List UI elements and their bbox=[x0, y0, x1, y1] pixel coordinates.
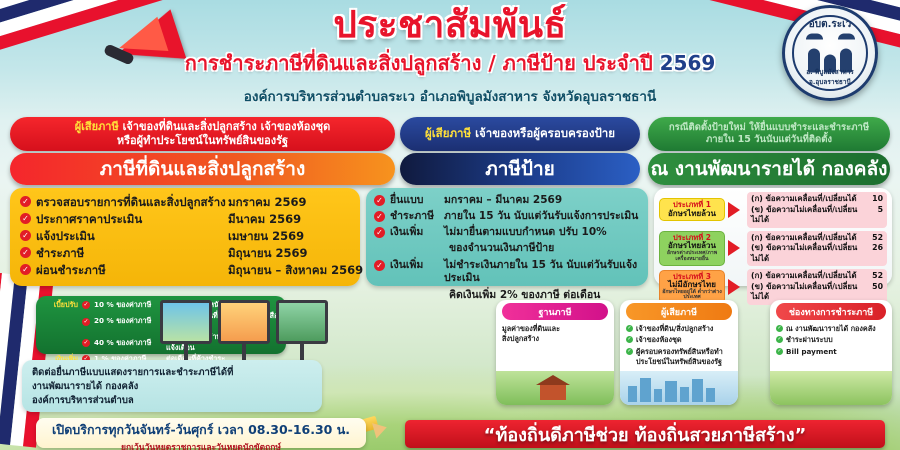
taxpayer-bar-land-line2: หรือผู้ทำประโยชน์ในทรัพย์สินของรัฐ bbox=[117, 134, 288, 147]
rate-line-value: 52 bbox=[865, 233, 883, 244]
schedule-date: เมษายน 2569 bbox=[228, 229, 304, 243]
rate-line-value: 26 bbox=[865, 243, 883, 264]
schedule-text: ภายใน 15 วัน นับแต่วันรับแจ้งการประเมิน bbox=[444, 210, 640, 223]
rate-type-tag: ประเภทที่ 3 ไม่มีอักษรไทย อักษรไทยอยู่ใต… bbox=[659, 270, 725, 304]
rate-line-text: (ข) ข้อความไม่เคลื่อนที่/เปลี่ยนไม่ได้ bbox=[751, 243, 865, 264]
check-icon: ✓ bbox=[82, 318, 90, 326]
list-item: ✓ ชำระภาษี มิถุนายน 2569 bbox=[20, 246, 350, 260]
category-land-tax: ภาษีที่ดินและสิ่งปลูกสร้าง bbox=[10, 153, 395, 185]
info-card-payment-channels: ช่องทางการชำระภาษี ✓ณ งานพัฒนารายได้ กอง… bbox=[770, 300, 892, 405]
service-hours-box: เปิดบริการทุกวันจันทร์-วันศุกร์ เวลา 08.… bbox=[36, 418, 366, 448]
taxpayer-bar-sign-key: ผู้เสียภาษี bbox=[425, 126, 471, 140]
check-icon: ✓ bbox=[626, 348, 633, 355]
card-text: ชำระผ่านระบบ bbox=[786, 335, 833, 345]
list-item: ✓ผู้ครอบครองทรัพย์สินหรือทำประโยชน์ในทรั… bbox=[626, 347, 732, 368]
list-item: ✓ณ งานพัฒนารายได้ กองคลัง bbox=[776, 324, 886, 334]
taxpayer-bar-sign: ผู้เสียภาษี เจ้าของหรือผู้ครอบครองป้าย bbox=[400, 117, 640, 151]
list-item: ✓ ชำระภาษี ภายใน 15 วัน นับแต่วันรับแจ้ง… bbox=[374, 210, 640, 223]
taxpayer-bar-sign-text: เจ้าของหรือผู้ครอบครองป้าย bbox=[475, 126, 615, 140]
rate-line-value: 10 bbox=[865, 194, 883, 205]
rate-line-text: (ข) ข้อความไม่เคลื่อนที่/เปลี่ยนไม่ได้ bbox=[751, 205, 865, 226]
slogan-banner: “ท้องถิ่นดีภาษีช่วย ท้องถิ่นสวยภาษีสร้าง… bbox=[405, 420, 885, 448]
new-sign-notice-line1: กรณีติดตั้งป้ายใหม่ ให้ยื่นแบบชำระและชำร… bbox=[669, 122, 869, 133]
check-icon: ✓ bbox=[776, 348, 783, 355]
schedule-date: มิถุนายน – สิงหาคม 2569 bbox=[228, 263, 363, 277]
check-icon: ✓ bbox=[626, 336, 633, 343]
schedule-continuation: ของจำนวนเงินภาษีป้าย bbox=[374, 239, 640, 256]
card-text: ณ งานพัฒนารายได้ กองคลัง bbox=[786, 324, 876, 334]
taxpayer-bar-land-key: ผู้เสียภาษี bbox=[75, 120, 119, 133]
category-payment-place: ณ งานพัฒนารายได้ กองคลัง bbox=[648, 153, 890, 185]
rate-values: (ก) ข้อความเคลื่อนที่/เปลี่ยนได้10 (ข) ข… bbox=[747, 192, 887, 228]
penalty-percent: 20 % ของค่าภาษี bbox=[94, 316, 166, 327]
check-icon: ✓ bbox=[626, 325, 633, 332]
card-text: มูลค่าของที่ดินและ bbox=[502, 324, 608, 334]
service-hours-line1: เปิดบริการทุกวันจันทร์-วันศุกร์ เวลา 08.… bbox=[36, 420, 366, 440]
schedule-label: ตรวจสอบรายการที่ดินและสิ่งปลูกสร้าง bbox=[36, 195, 228, 209]
rate-line-value: 52 bbox=[865, 271, 883, 282]
card-text: Bill payment bbox=[786, 347, 837, 357]
card-title: ผู้เสียภาษี bbox=[626, 303, 732, 320]
penalty-percent: 10 % ของค่าภาษี bbox=[94, 300, 166, 311]
arrow-right-icon bbox=[728, 279, 744, 295]
schedule-date: มิถุนายน 2569 bbox=[228, 246, 307, 260]
page-title: ประชาสัมพันธ์ bbox=[0, 2, 900, 45]
check-icon: ✓ bbox=[20, 213, 31, 224]
taxpayer-bar-land-line1: เจ้าของที่ดินและสิ่งปลูกสร้าง เจ้าของห้อ… bbox=[123, 120, 331, 133]
card-body: มูลค่าของที่ดินและ สิ่งปลูกสร้าง bbox=[496, 320, 614, 349]
header-organization: องค์การบริหารส่วนตำบลระเว อำเภอพิบูลมังส… bbox=[0, 85, 900, 107]
check-icon: ✓ bbox=[20, 247, 31, 258]
check-icon: ✓ bbox=[82, 301, 90, 309]
schedule-text: ไม่ชำระเงินภายใน 15 วัน นับแต่วันรับแจ้ง… bbox=[444, 259, 640, 285]
schedule-label: เงินเพิ่ม bbox=[390, 226, 444, 239]
municipal-seal-logo: อบต.ระเว อ. พิบูลมังสาหาร จ.อุบลราชธานี bbox=[782, 5, 878, 101]
schedule-date: มกราคม 2569 bbox=[228, 195, 306, 209]
rate-type-note: อักษรต่างประเทศ/ภาพเครื่องหมายอื่น bbox=[661, 251, 723, 262]
check-icon: ✓ bbox=[20, 196, 31, 207]
contact-line-2: งานพัฒนารายได้ กองคลัง bbox=[32, 380, 312, 394]
billboard-illustration bbox=[160, 300, 335, 362]
new-sign-notice-bar: กรณีติดตั้งป้ายใหม่ ให้ยื่นแบบชำระและชำร… bbox=[648, 117, 890, 151]
contact-info-box: ติดต่อยื่นภาษีแบบแสดงรายการและชำระภาษีได… bbox=[22, 360, 322, 412]
card-title: ช่องทางการชำระภาษี bbox=[776, 303, 886, 320]
table-row: ประเภทที่ 2 อักษรไทยล้วน อักษรต่างประเทศ… bbox=[659, 231, 887, 267]
farm-illustration bbox=[496, 371, 614, 405]
rate-type-name: อักษรไทยล้วน bbox=[661, 210, 723, 219]
list-item: ✓เจ้าของที่ดิน/สิ่งปลูกสร้าง bbox=[626, 324, 732, 334]
rate-line-text: (ก) ข้อความเคลื่อนที่/เปลี่ยนได้ bbox=[751, 233, 865, 244]
schedule-label: เงินเพิ่ม bbox=[390, 259, 444, 272]
schedule-label: ผ่อนชำระภาษี bbox=[36, 263, 228, 277]
leaf-illustration bbox=[770, 371, 892, 405]
rate-type-tag: ประเภทที่ 2 อักษรไทยล้วน อักษรต่างประเทศ… bbox=[659, 231, 725, 265]
schedule-date: มีนาคม 2569 bbox=[228, 212, 301, 226]
check-icon: ✓ bbox=[374, 211, 385, 222]
list-item: ✓ เงินเพิ่ม ไม่มายื่นตามแบบกำหนด ปรับ 10… bbox=[374, 226, 640, 239]
schedule-label: ชำระภาษี bbox=[390, 210, 444, 223]
seal-bottom-text: อ. พิบูลมังสาหาร จ.อุบลราชธานี bbox=[785, 67, 875, 87]
check-icon: ✓ bbox=[374, 260, 385, 271]
list-item: ✓ แจ้งประเมิน เมษายน 2569 bbox=[20, 229, 350, 243]
list-item: ✓ ประกาศราคาประเมิน มีนาคม 2569 bbox=[20, 212, 350, 226]
seal-top-text: อบต.ระเว bbox=[785, 17, 875, 32]
rate-line-text: (ก) ข้อความเคลื่อนที่/เปลี่ยนได้ bbox=[751, 271, 865, 282]
contact-line-3: องค์การบริหารส่วนตำบล bbox=[32, 394, 312, 408]
sign-tax-rate-table: ประเภทที่ 1 อักษรไทยล้วน (ก) ข้อความเคลื… bbox=[654, 188, 892, 286]
contact-line-1: ติดต่อยื่นภาษีแบบแสดงรายการและชำระภาษีได… bbox=[32, 366, 312, 380]
check-icon: ✓ bbox=[374, 195, 385, 206]
seal-figures-icon bbox=[806, 36, 854, 72]
table-row: ประเภทที่ 1 อักษรไทยล้วน (ก) ข้อความเคลื… bbox=[659, 192, 887, 228]
poster-root: ประชาสัมพันธ์ การชำระภาษีที่ดินและสิ่งปล… bbox=[0, 0, 900, 450]
check-icon: ✓ bbox=[776, 325, 783, 332]
card-title: ฐานภาษี bbox=[502, 303, 608, 320]
taxpayer-bar-land: ผู้เสียภาษี เจ้าของที่ดินและสิ่งปลูกสร้า… bbox=[10, 117, 395, 151]
category-sign-tax: ภาษีป้าย bbox=[400, 153, 640, 185]
schedule-label: แจ้งประเมิน bbox=[36, 229, 228, 243]
service-hours-line2: ยกเว้นวันหยุดราชการและวันหยุดนักขัตฤกษ์ bbox=[36, 440, 366, 450]
list-item: ✓ ยื่นแบบ มกราคม – มีนาคม 2569 bbox=[374, 194, 640, 207]
info-card-tax-base: ฐานภาษี มูลค่าของที่ดินและ สิ่งปลูกสร้าง bbox=[496, 300, 614, 405]
info-card-taxpayer: ผู้เสียภาษี ✓เจ้าของที่ดิน/สิ่งปลูกสร้าง… bbox=[620, 300, 738, 405]
card-body: ✓เจ้าของที่ดิน/สิ่งปลูกสร้าง ✓เจ้าของห้อ… bbox=[620, 320, 738, 373]
card-text: เจ้าของที่ดิน/สิ่งปลูกสร้าง bbox=[636, 324, 713, 334]
header: ประชาสัมพันธ์ การชำระภาษีที่ดินและสิ่งปล… bbox=[0, 2, 900, 114]
list-item: ✓เจ้าของห้องชุด bbox=[626, 335, 732, 345]
sign-tax-schedule-panel: ✓ ยื่นแบบ มกราคม – มีนาคม 2569 ✓ ชำระภาษ… bbox=[366, 188, 648, 286]
schedule-label: ประกาศราคาประเมิน bbox=[36, 212, 228, 226]
rate-line-text: (ก) ข้อความเคลื่อนที่/เปลี่ยนได้ bbox=[751, 194, 865, 205]
check-icon: ✓ bbox=[20, 230, 31, 241]
header-subtitle: การชำระภาษีที่ดินและสิ่งปลูกสร้าง / ภาษี… bbox=[0, 47, 900, 79]
penalty-percent: 40 % ของค่าภาษี bbox=[94, 338, 166, 349]
schedule-label: ยื่นแบบ bbox=[390, 194, 444, 207]
rate-type-tag: ประเภทที่ 1 อักษรไทยล้วน bbox=[659, 198, 725, 221]
header-subtitle-text: การชำระภาษีที่ดินและสิ่งปลูกสร้าง / ภาษี… bbox=[185, 51, 653, 75]
list-item: ✓ ตรวจสอบรายการที่ดินและสิ่งปลูกสร้าง มก… bbox=[20, 195, 350, 209]
schedule-text: ไม่มายื่นตามแบบกำหนด ปรับ 10% bbox=[444, 226, 640, 239]
arrow-right-icon bbox=[728, 202, 744, 218]
check-icon: ✓ bbox=[374, 227, 385, 238]
schedule-text: มกราคม – มีนาคม 2569 bbox=[444, 194, 640, 207]
rate-values: (ก) ข้อความเคลื่อนที่/เปลี่ยนได้52 (ข) ข… bbox=[747, 231, 887, 267]
check-icon: ✓ bbox=[82, 339, 90, 347]
card-text: สิ่งปลูกสร้าง bbox=[502, 334, 608, 344]
list-item: ✓ ผ่อนชำระภาษี มิถุนายน – สิงหาคม 2569 bbox=[20, 263, 350, 277]
list-item: ✓ชำระผ่านระบบ bbox=[776, 335, 886, 345]
rate-line-value: 5 bbox=[865, 205, 883, 226]
arrow-right-icon bbox=[728, 240, 744, 256]
card-text: เจ้าของห้องชุด bbox=[636, 335, 682, 345]
land-tax-schedule-panel: ✓ ตรวจสอบรายการที่ดินและสิ่งปลูกสร้าง มก… bbox=[10, 188, 360, 286]
header-year: 2569 bbox=[660, 51, 716, 75]
check-icon: ✓ bbox=[776, 336, 783, 343]
penalty-head-fine: เบี้ยปรับ bbox=[42, 300, 82, 311]
card-body: ✓ณ งานพัฒนารายได้ กองคลัง ✓ชำระผ่านระบบ … bbox=[770, 320, 892, 362]
list-item: ✓Bill payment bbox=[776, 347, 886, 357]
list-item: ✓ เงินเพิ่ม ไม่ชำระเงินภายใน 15 วัน นับแ… bbox=[374, 259, 640, 285]
new-sign-notice-line2: ภายใน 15 วันนับแต่วันที่ติดตั้ง bbox=[706, 134, 832, 145]
card-text: ผู้ครอบครองทรัพย์สินหรือทำประโยชน์ในทรัพ… bbox=[636, 347, 732, 368]
schedule-label: ชำระภาษี bbox=[36, 246, 228, 260]
check-icon: ✓ bbox=[20, 264, 31, 275]
city-illustration bbox=[620, 371, 738, 405]
